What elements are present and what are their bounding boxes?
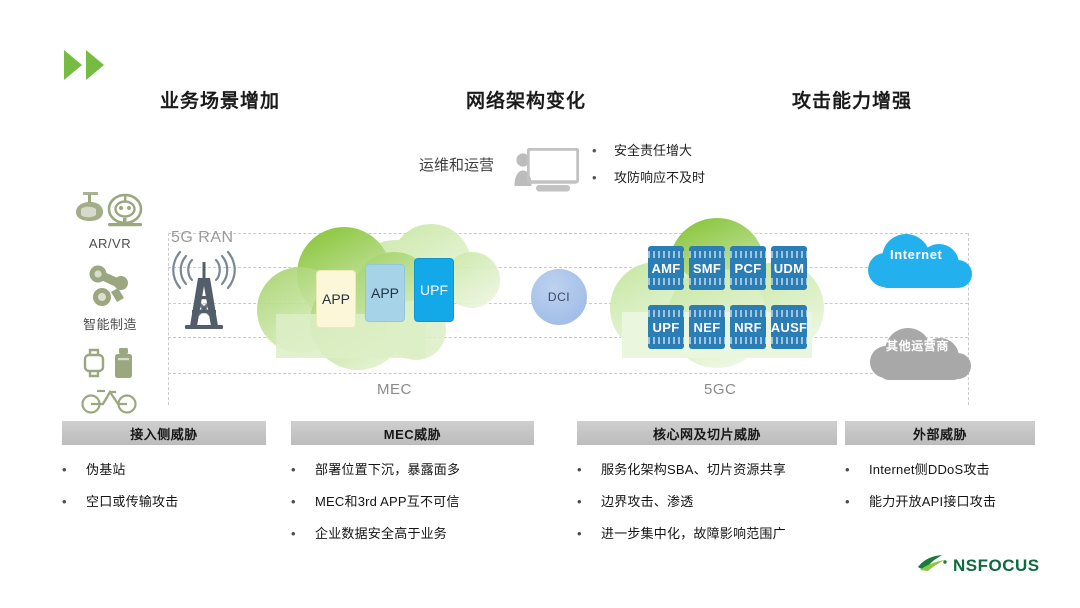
bullet-dot: • xyxy=(577,462,601,477)
threat-text: 企业数据安全高于业务 xyxy=(315,523,447,542)
nf-box-smf[interactable]: SMF xyxy=(689,246,725,290)
bullet-dot: • xyxy=(577,526,601,541)
bullet-dot: • xyxy=(592,144,614,157)
slide-canvas: 业务场景增加 网络架构变化 攻击能力增强 运维和运营 • 安全责任增大 • 攻防 xyxy=(0,0,1080,608)
threat-list-access: •伪基站 •空口或传输攻击 xyxy=(62,459,178,523)
list-item: •进一步集中化，故障影响范围广 xyxy=(577,523,786,542)
section-header-attack: 攻击能力增强 xyxy=(792,86,912,113)
nsfocus-wordmark: NSFOCUS xyxy=(953,556,1040,576)
list-item: •边界攻击、渗透 xyxy=(577,491,786,510)
vr-headset-icon xyxy=(62,190,158,235)
list-item: •伪基站 xyxy=(62,459,178,478)
other-operator-label: 其他运营商 xyxy=(886,337,949,354)
other-operator-cloud xyxy=(866,325,978,390)
nsfocus-logo: NSFOCUS xyxy=(916,553,1040,578)
core-network-label: 5GC xyxy=(704,381,736,398)
nf-box-udm[interactable]: UDM xyxy=(771,246,807,290)
list-item: • 攻防响应不及时 xyxy=(592,167,782,186)
internet-label: Internet xyxy=(890,247,942,262)
nf-box-upf[interactable]: UPF xyxy=(648,305,684,349)
list-item: •Internet侧DDoS攻击 xyxy=(845,459,996,478)
dci-node[interactable]: DCI xyxy=(531,269,587,325)
list-item: • 安全责任增大 xyxy=(592,140,782,159)
list-item: •空口或传输攻击 xyxy=(62,491,178,510)
threat-list-core: •服务化架构SBA、切片资源共享 •边界攻击、渗透 •进一步集中化，故障影响范围… xyxy=(577,459,786,555)
ran-label: 5G RAN xyxy=(171,229,234,247)
device-item-arvr: AR/VR xyxy=(62,190,158,251)
threat-text: 能力开放API接口攻击 xyxy=(869,491,996,510)
bullet-dot: • xyxy=(845,494,869,509)
threat-text: 服务化架构SBA、切片资源共享 xyxy=(601,459,786,478)
monitor-icon xyxy=(527,148,579,197)
bullet-dot: • xyxy=(291,494,315,509)
operations-bullet-list: • 安全责任增大 • 攻防响应不及时 xyxy=(592,140,782,194)
nf-box-amf[interactable]: AMF xyxy=(648,246,684,290)
threat-text: 空口或传输攻击 xyxy=(86,491,178,510)
bullet-dot: • xyxy=(577,494,601,509)
device-caption: 智能制造 xyxy=(62,314,158,333)
threat-bar-mec: MEC威胁 xyxy=(291,421,534,445)
bullet-dot: • xyxy=(592,171,614,184)
chevron-double-right-icon xyxy=(62,48,108,82)
threat-text: 边界攻击、渗透 xyxy=(601,491,693,510)
list-item: •MEC和3rd APP互不可信 xyxy=(291,491,460,510)
bullet-dot: • xyxy=(62,462,86,477)
threat-list-external: •Internet侧DDoS攻击 •能力开放API接口攻击 xyxy=(845,459,996,523)
list-item: •服务化架构SBA、切片资源共享 xyxy=(577,459,786,478)
operations-bullet-text: 攻防响应不及时 xyxy=(614,167,705,186)
bicycle-icon xyxy=(62,386,158,419)
threat-text: Internet侧DDoS攻击 xyxy=(869,459,990,478)
list-item: •能力开放API接口攻击 xyxy=(845,491,996,510)
operations-bullet-text: 安全责任增大 xyxy=(614,140,692,159)
threat-text: 部署位置下沉，暴露面多 xyxy=(315,459,460,478)
bullet-dot: • xyxy=(291,462,315,477)
nf-box-ausf[interactable]: AUSF xyxy=(771,305,807,349)
threat-text: MEC和3rd APP互不可信 xyxy=(315,491,460,510)
list-item: •部署位置下沉，暴露面多 xyxy=(291,459,460,478)
mec-label: MEC xyxy=(377,381,412,398)
threat-list-mec: •部署位置下沉，暴露面多 •MEC和3rd APP互不可信 •企业数据安全高于业… xyxy=(291,459,460,555)
mec-upf-box[interactable]: UPF xyxy=(414,258,454,322)
internet-cloud xyxy=(866,232,978,299)
device-caption: AR/VR xyxy=(62,236,158,251)
core-network-cloud xyxy=(592,216,842,389)
device-scenario-column: AR/VR 智能制造 xyxy=(62,190,158,435)
nf-box-nef[interactable]: NEF xyxy=(689,305,725,349)
threat-bar-external: 外部威胁 xyxy=(845,421,1035,445)
cell-tower-icon xyxy=(168,248,240,339)
device-item-manufacturing: 智能制造 xyxy=(62,264,158,333)
nsfocus-mark-icon xyxy=(916,553,950,578)
bullet-dot: • xyxy=(291,526,315,541)
threat-bar-access: 接入侧威胁 xyxy=(62,421,266,445)
threat-bar-core: 核心网及切片威胁 xyxy=(577,421,837,445)
list-item: •企业数据安全高于业务 xyxy=(291,523,460,542)
nf-box-pcf[interactable]: PCF xyxy=(730,246,766,290)
nf-box-nrf[interactable]: NRF xyxy=(730,305,766,349)
bullet-dot: • xyxy=(845,462,869,477)
threat-text: 伪基站 xyxy=(86,459,126,478)
section-header-network: 网络架构变化 xyxy=(466,86,586,113)
threat-text: 进一步集中化，故障影响范围广 xyxy=(601,523,786,542)
bullet-dot: • xyxy=(62,494,86,509)
smartwatch-icon xyxy=(62,346,158,385)
robot-arm-icon xyxy=(62,264,158,313)
mec-app-box-1[interactable]: APP xyxy=(316,270,356,328)
mec-app-box-2[interactable]: APP xyxy=(365,264,405,322)
operations-label: 运维和运营 xyxy=(419,154,494,175)
section-header-business: 业务场景增加 xyxy=(160,86,280,113)
